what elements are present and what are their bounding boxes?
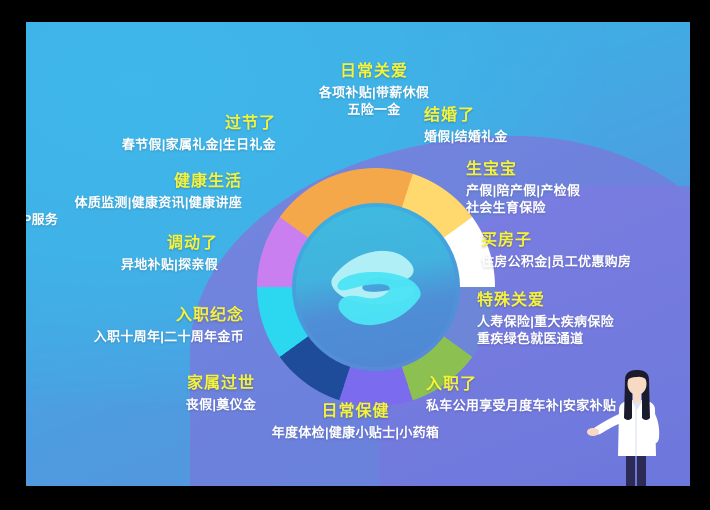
label-got-married-line1: 婚假|结婚礼金 xyxy=(424,129,508,146)
label-having-baby: 生宝宝 产假|陪产假|产检假 社会生育保险 xyxy=(466,160,580,217)
label-special-care-title: 特殊关爱 xyxy=(477,291,614,311)
label-special-care-line1: 人寿保险|重大疾病保险 xyxy=(477,314,614,331)
label-daily-health-line1: 年度体检|健康小贴士|小药箱 xyxy=(248,425,463,442)
label-family-bereavement-line1: 丧假|奠仪金 xyxy=(146,397,296,414)
label-healthy-life-title: 健康生活 xyxy=(26,172,242,192)
label-got-married: 结婚了 婚假|结婚礼金 xyxy=(424,106,508,146)
doctor-leg-left xyxy=(626,452,635,486)
label-transferred-line1: 异地补贴|探亲假 xyxy=(26,257,218,274)
label-family-bereavement-title: 家属过世 xyxy=(146,374,296,394)
label-work-anniversary: 入职纪念 入职十周年|二十周年金币 xyxy=(26,306,244,346)
doctor-leg-right xyxy=(637,452,646,486)
label-healthy-life-line2: EAP服务 xyxy=(26,212,242,229)
label-having-baby-line1: 产假|陪产假|产检假 xyxy=(466,183,580,200)
label-having-baby-title: 生宝宝 xyxy=(466,160,580,180)
label-daily-care-title: 日常关爱 xyxy=(274,62,474,82)
label-daily-care-line1: 各项补贴|带薪休假 xyxy=(274,85,474,102)
doctor-hand xyxy=(587,428,599,436)
label-buying-house-title: 买房子 xyxy=(481,231,631,251)
label-transferred: 调动了 异地补贴|探亲假 xyxy=(26,234,218,274)
label-buying-house: 买房子 住房公积金|员工优惠购房 xyxy=(481,231,631,271)
label-buying-house-line1: 住房公积金|员工优惠购房 xyxy=(481,254,631,271)
label-work-anniversary-line1: 入职十周年|二十周年金币 xyxy=(26,329,244,346)
label-holiday-line1: 春节假|家属礼金|生日礼金 xyxy=(46,137,276,154)
label-healthy-life-line1: 体质监测|健康资讯|健康讲座 xyxy=(26,195,242,212)
female-doctor-illustration xyxy=(586,366,682,486)
label-got-married-title: 结婚了 xyxy=(424,106,508,126)
benefits-poster: 日常关爱 各项补贴|带薪休假 五险一金 结婚了 婚假|结婚礼金 生宝宝 产假|陪… xyxy=(26,22,690,486)
label-healthy-life: 健康生活 体质监测|健康资讯|健康讲座 EAP服务 xyxy=(26,172,242,229)
benefits-donut-wheel xyxy=(257,168,495,406)
image-frame: 日常关爱 各项补贴|带薪休假 五险一金 结婚了 婚假|结婚礼金 生宝宝 产假|陪… xyxy=(0,0,710,510)
label-transferred-title: 调动了 xyxy=(26,234,218,254)
label-special-care-line2: 重疾绿色就医通道 xyxy=(477,331,614,348)
label-work-anniversary-title: 入职纪念 xyxy=(26,306,244,326)
center-logo-circle xyxy=(296,207,456,367)
label-holiday-title: 过节了 xyxy=(46,114,276,134)
label-family-bereavement: 家属过世 丧假|奠仪金 xyxy=(146,374,296,414)
label-holiday: 过节了 春节假|家属礼金|生日礼金 xyxy=(46,114,276,154)
label-special-care: 特殊关爱 人寿保险|重大疾病保险 重疾绿色就医通道 xyxy=(477,291,614,348)
label-having-baby-line2: 社会生育保险 xyxy=(466,200,580,217)
caring-hands-icon xyxy=(312,223,440,351)
